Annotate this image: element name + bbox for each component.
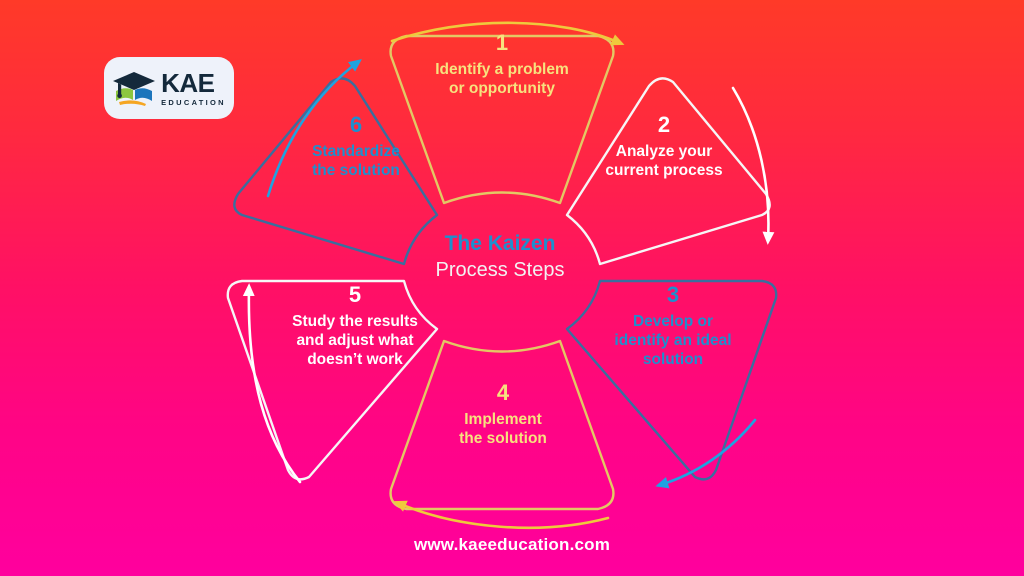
step-4-number: 4 [412,382,594,404]
center-title-line-2: Process Steps [398,258,602,283]
footer-website[interactable]: www.kaeeducation.com [0,535,1024,555]
infographic-canvas: KAE EDUCATION 1 Identify a problem or op… [0,0,1024,576]
step-3[interactable]: 3 Develop or identify an ideal solution [588,284,758,370]
step-4[interactable]: 4 Implement the solution [412,382,594,449]
step-1[interactable]: 1 Identify a problem or opportunity [402,32,602,99]
step-5-label: Study the results and adjust what doesn’… [262,313,448,370]
step-2-label: Analyze your current process [578,143,750,181]
step-5[interactable]: 5 Study the results and adjust what does… [262,284,448,370]
step-2-number: 2 [578,114,750,136]
step-1-label: Identify a problem or opportunity [402,61,602,99]
logo-primary-text: KAE [161,70,214,96]
arrow-step4-to-step5 [398,503,608,528]
logo-secondary-text: EDUCATION [161,99,226,107]
step-3-number: 3 [588,284,758,306]
graduation-cap-icon [112,69,156,107]
step-3-label: Develop or identify an ideal solution [588,313,758,370]
step-5-number: 5 [262,284,448,306]
brand-logo[interactable]: KAE EDUCATION [104,57,234,119]
step-1-number: 1 [402,32,602,54]
center-title: The Kaizen Process Steps [398,232,602,283]
step-6-number: 6 [274,114,438,136]
step-6[interactable]: 6 Standardize the solution [274,114,438,181]
step-6-label: Standardize the solution [274,143,438,181]
step-4-label: Implement the solution [412,411,594,449]
center-title-line-1: The Kaizen [398,232,602,257]
step-2[interactable]: 2 Analyze your current process [578,114,750,181]
